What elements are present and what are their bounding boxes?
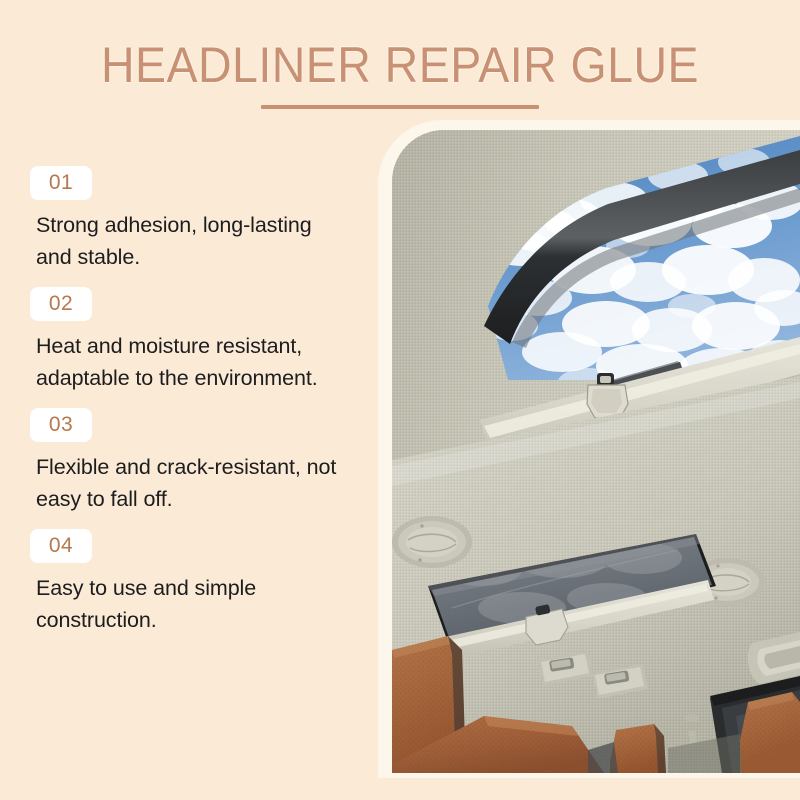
- list-item: 02 Heat and moisture resistant, adaptabl…: [30, 287, 378, 394]
- feature-list: 01 Strong adhesion, long-lasting and sta…: [30, 166, 378, 650]
- speaker-grille: [392, 516, 472, 568]
- feature-description: Easy to use and simple construction.: [36, 572, 336, 636]
- page-title: HEADLINER REPAIR GLUE: [28, 36, 772, 94]
- title-underline: [261, 105, 539, 109]
- product-infographic: HEADLINER REPAIR GLUE 01 Strong adhesion…: [0, 0, 800, 800]
- header: HEADLINER REPAIR GLUE: [0, 36, 800, 109]
- car-interior-photo: [392, 130, 800, 773]
- car-interior-illustration: [392, 130, 800, 773]
- list-item: 04 Easy to use and simple construction.: [30, 529, 378, 636]
- feature-number-badge: 02: [30, 287, 92, 321]
- list-item: 01 Strong adhesion, long-lasting and sta…: [30, 166, 378, 273]
- feature-description: Heat and moisture resistant, adaptable t…: [36, 330, 376, 394]
- feature-number-badge: 01: [30, 166, 92, 200]
- feature-number-badge: 03: [30, 408, 92, 442]
- feature-number-badge: 04: [30, 529, 92, 563]
- feature-description: Flexible and crack-resistant, not easy t…: [36, 451, 378, 515]
- feature-description: Strong adhesion, long-lasting and stable…: [36, 209, 336, 273]
- list-item: 03 Flexible and crack-resistant, not eas…: [30, 408, 378, 515]
